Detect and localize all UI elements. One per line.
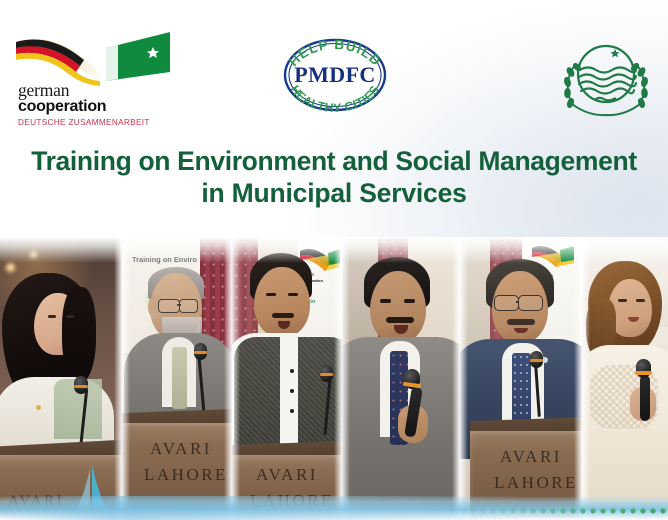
speaker-photo-6 [582, 237, 668, 520]
speaker-photo-2: Training on Enviro in M Venue: [122, 237, 232, 520]
podium-brand-2b: LAHORE [144, 465, 228, 485]
gc-line-cooperation: cooperation [18, 99, 174, 116]
title-line-2: in Municipal Services [0, 177, 668, 209]
german-cooperation-wordmark: german cooperation DEUTSCHE ZUSAMMENARBE… [18, 82, 174, 127]
gc-line-tagline: DEUTSCHE ZUSAMMENARBEIT [18, 118, 174, 127]
footer-dots-decoration [438, 505, 668, 517]
logo-row: german cooperation DEUTSCHE ZUSAMMENARBE… [0, 0, 668, 136]
speaker-photo-5: german cooperation ining [460, 237, 582, 520]
government-of-punjab-emblem [556, 30, 656, 126]
speaker-photo-3: german cooperation Train [232, 237, 342, 520]
backdrop-banner-line-1: Training on Enviro [132, 255, 197, 264]
podium-brand-3a: AVARI [256, 465, 318, 485]
german-cooperation-logo: german cooperation DEUTSCHE ZUSAMMENARBE… [10, 28, 174, 132]
speaker-photo-1: AVARI [0, 237, 122, 520]
slide-title: Training on Environment and Social Manag… [0, 145, 668, 209]
pmdfc-seal-icon: HELP BUILD PMDFC HEALTHY CITIES [274, 32, 396, 118]
presentation-slide: german cooperation DEUTSCHE ZUSAMMENARBE… [0, 0, 668, 520]
pmdfc-logo: HELP BUILD PMDFC HEALTHY CITIES [274, 32, 396, 118]
punjab-seal-icon [556, 30, 656, 126]
speaker-photo-collage: AVARI Training on Enviro in M Venue: [0, 237, 668, 520]
podium-brand-2a: AVARI [150, 439, 212, 459]
german-pakistan-flag-ribbon-icon [10, 28, 174, 86]
podium-brand-5a: AVARI [500, 447, 562, 467]
podium-brand-5b: LAHORE [494, 473, 578, 493]
title-line-1: Training on Environment and Social Manag… [0, 145, 668, 177]
svg-text:PMDFC: PMDFC [294, 62, 375, 87]
speaker-photo-4 [342, 237, 460, 520]
